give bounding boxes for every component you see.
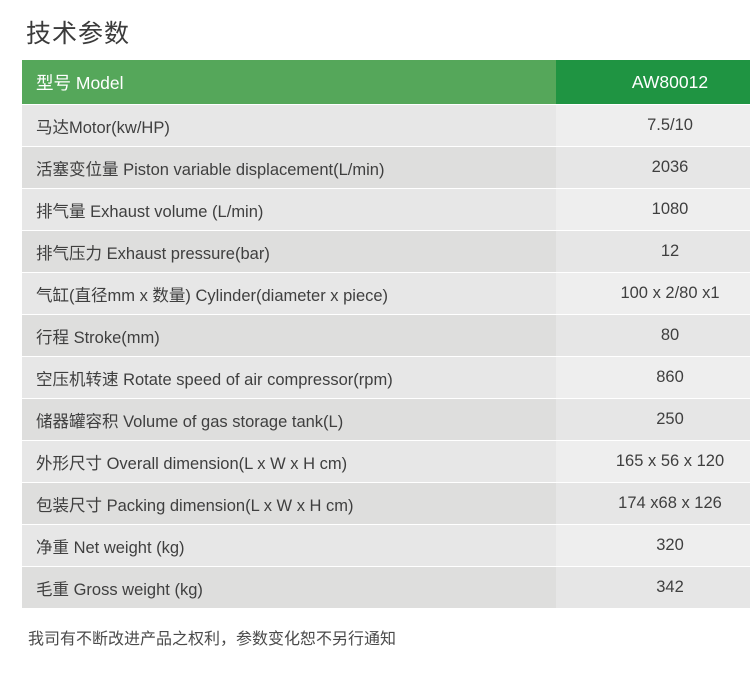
- table-row: 储器罐容积 Volume of gas storage tank(L) 250: [22, 399, 750, 441]
- table-row: 包装尺寸 Packing dimension(L x W x H cm) 174…: [22, 483, 750, 525]
- table-row: 活塞变位量 Piston variable displacement(L/min…: [22, 147, 750, 189]
- row-value: 250: [556, 399, 750, 441]
- row-label: 行程 Stroke(mm): [22, 315, 556, 357]
- table-row: 马达Motor(kw/HP) 7.5/10: [22, 105, 750, 147]
- row-value: 7.5/10: [556, 105, 750, 147]
- row-value: 2036: [556, 147, 750, 189]
- row-label: 净重 Net weight (kg): [22, 525, 556, 567]
- table-row: 毛重 Gross weight (kg) 342: [22, 567, 750, 609]
- table-header-row: 型号 Model AW80012: [22, 60, 750, 105]
- row-value: 12: [556, 231, 750, 273]
- row-label: 马达Motor(kw/HP): [22, 105, 556, 147]
- row-value: 342: [556, 567, 750, 609]
- table-row: 空压机转速 Rotate speed of air compressor(rpm…: [22, 357, 750, 399]
- table-row: 排气量 Exhaust volume (L/min) 1080: [22, 189, 750, 231]
- row-label: 气缸(直径mm x 数量) Cylinder(diameter x piece): [22, 273, 556, 315]
- row-label: 包装尺寸 Packing dimension(L x W x H cm): [22, 483, 556, 525]
- row-value: 320: [556, 525, 750, 567]
- table-row: 气缸(直径mm x 数量) Cylinder(diameter x piece)…: [22, 273, 750, 315]
- row-label: 空压机转速 Rotate speed of air compressor(rpm…: [22, 357, 556, 399]
- footnote-text: 我司有不断改进产品之权利，参数变化恕不另行通知: [22, 609, 728, 649]
- row-label: 排气压力 Exhaust pressure(bar): [22, 231, 556, 273]
- row-label: 储器罐容积 Volume of gas storage tank(L): [22, 399, 556, 441]
- row-value: 860: [556, 357, 750, 399]
- row-value: 174 x68 x 126: [556, 483, 750, 525]
- row-value: 1080: [556, 189, 750, 231]
- row-value: 100 x 2/80 x1: [556, 273, 750, 315]
- row-value: 165 x 56 x 120: [556, 441, 750, 483]
- specifications-table: 型号 Model AW80012 马达Motor(kw/HP) 7.5/10 活…: [22, 60, 750, 609]
- row-label: 排气量 Exhaust volume (L/min): [22, 189, 556, 231]
- table-row: 净重 Net weight (kg) 320: [22, 525, 750, 567]
- table-row: 外形尺寸 Overall dimension(L x W x H cm) 165…: [22, 441, 750, 483]
- row-label: 毛重 Gross weight (kg): [22, 567, 556, 609]
- table-row: 排气压力 Exhaust pressure(bar) 12: [22, 231, 750, 273]
- spec-page: 技术参数 型号 Model AW80012 马达Motor(kw/HP) 7.5…: [0, 0, 750, 674]
- row-label: 活塞变位量 Piston variable displacement(L/min…: [22, 147, 556, 189]
- row-label: 外形尺寸 Overall dimension(L x W x H cm): [22, 441, 556, 483]
- table-header-label: 型号 Model: [22, 60, 556, 105]
- table-row: 行程 Stroke(mm) 80: [22, 315, 750, 357]
- row-value: 80: [556, 315, 750, 357]
- table-header-value: AW80012: [556, 60, 750, 105]
- page-title: 技术参数: [22, 0, 728, 60]
